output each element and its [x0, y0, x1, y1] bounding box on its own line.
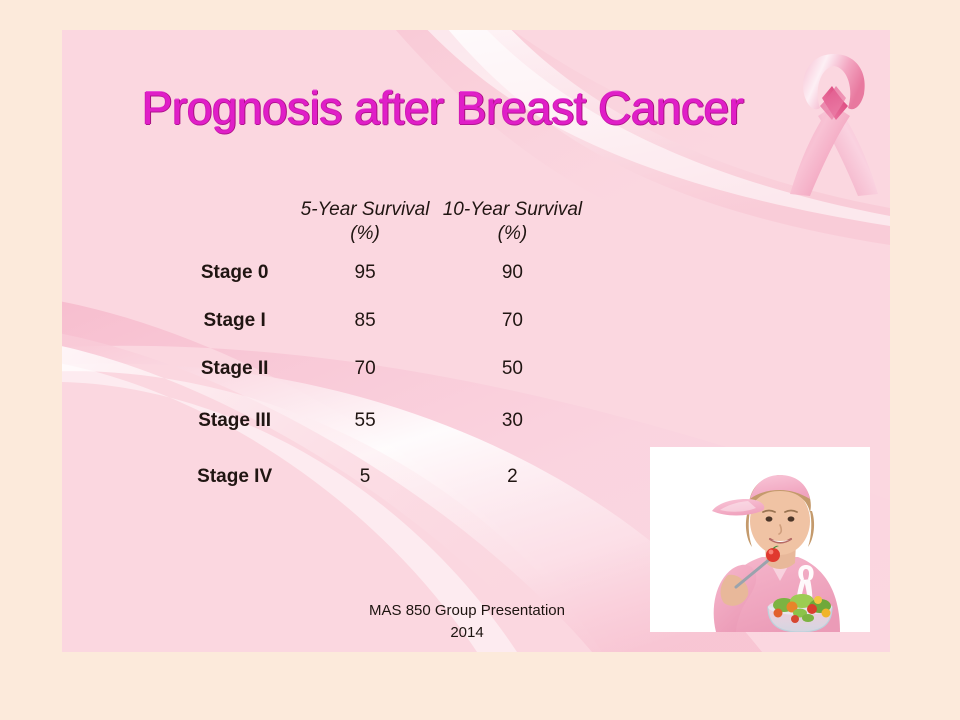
- slide-outer-frame: Prognosis after Breast Cancer: [0, 0, 960, 720]
- table-row: Stage IV 5 2: [172, 449, 592, 505]
- column-header-10-year-survival: 10-Year Survival (%): [433, 198, 592, 249]
- stage-label: Stage IV: [172, 449, 297, 505]
- ten-year-value: 50: [433, 345, 592, 393]
- column-header-stage: [172, 198, 297, 249]
- stage-label: Stage III: [172, 393, 297, 449]
- table-row: Stage 0 95 90: [172, 249, 592, 297]
- survival-rate-table: 5-Year Survival (%) 10-Year Survival (%)…: [172, 198, 592, 505]
- ten-year-value: 30: [433, 393, 592, 449]
- presentation-slide: Prognosis after Breast Cancer: [62, 30, 890, 652]
- stage-label: Stage I: [172, 297, 297, 345]
- ten-year-value: 90: [433, 249, 592, 297]
- page-title: Prognosis after Breast Cancer: [142, 84, 744, 132]
- pink-ribbon-icon: [774, 42, 890, 202]
- presentation-credit: MAS 850 Group Presentation 2014: [302, 600, 632, 644]
- column-header-5-year-survival: 5-Year Survival (%): [297, 198, 433, 249]
- ten-year-value: 2: [433, 449, 592, 505]
- credit-line-1: MAS 850 Group Presentation: [302, 600, 632, 622]
- stage-label: Stage II: [172, 345, 297, 393]
- table-row: Stage II 70 50: [172, 345, 592, 393]
- table-row: Stage I 85 70: [172, 297, 592, 345]
- survivor-photo-illustration: [650, 447, 870, 632]
- five-year-value: 95: [297, 249, 433, 297]
- credit-line-2: 2014: [302, 622, 632, 644]
- table-header-row: 5-Year Survival (%) 10-Year Survival (%): [172, 198, 592, 249]
- table-row: Stage III 55 30: [172, 393, 592, 449]
- five-year-value: 55: [297, 393, 433, 449]
- ten-year-value: 70: [433, 297, 592, 345]
- five-year-value: 85: [297, 297, 433, 345]
- survivor-photo: [650, 447, 870, 632]
- stage-label: Stage 0: [172, 249, 297, 297]
- five-year-value: 70: [297, 345, 433, 393]
- five-year-value: 5: [297, 449, 433, 505]
